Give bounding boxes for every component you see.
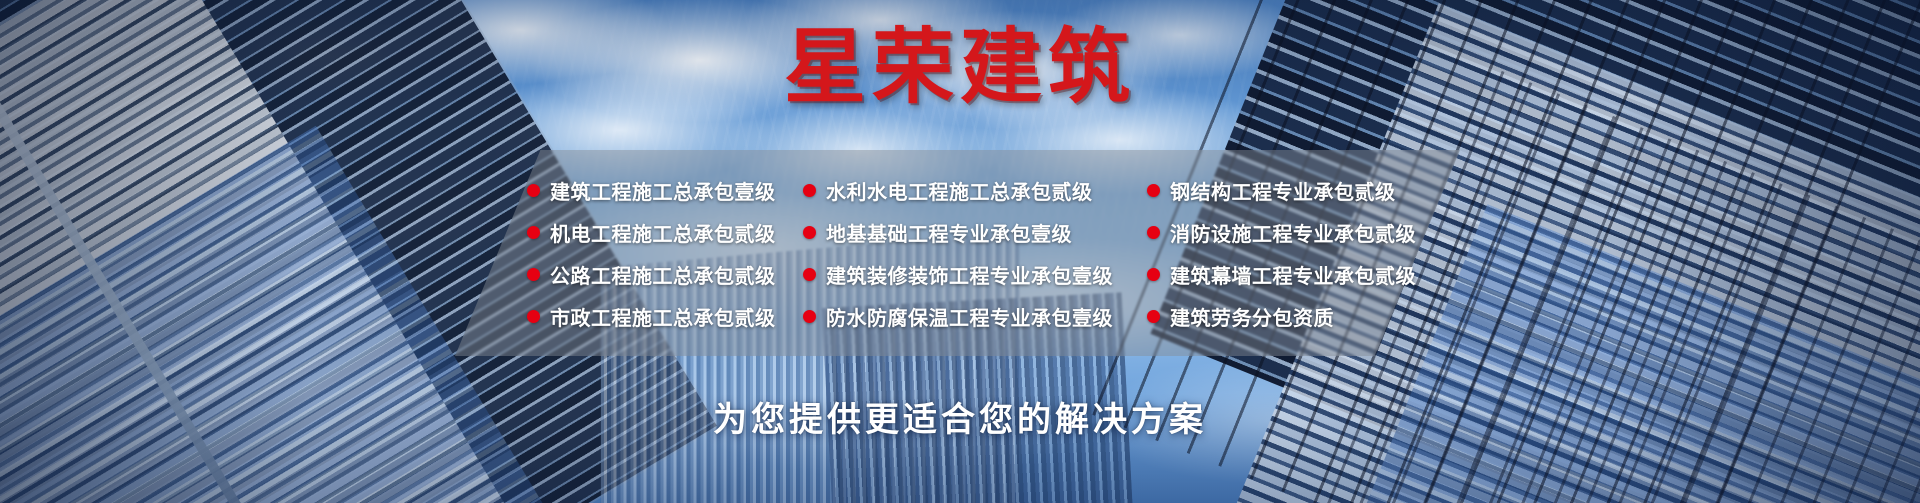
bullet-dot-icon: [527, 184, 540, 197]
qualification-item: 建筑工程施工总承包壹级: [527, 176, 785, 205]
qualification-item: 建筑劳务分包资质: [1147, 302, 1460, 331]
qualification-label: 机电工程施工总承包贰级: [550, 218, 776, 247]
qualifications-grid: 建筑工程施工总承包壹级 机电工程施工总承包贰级 公路工程施工总承包贰级 市政工程…: [455, 150, 1460, 356]
qualification-label: 钢结构工程专业承包贰级: [1170, 176, 1396, 205]
bullet-dot-icon: [803, 268, 816, 281]
qualification-label: 防水防腐保温工程专业承包壹级: [826, 302, 1113, 331]
qualification-label: 建筑装修装饰工程专业承包壹级: [826, 260, 1113, 289]
hero-banner: 星荣建筑 建筑工程施工总承包壹级 机电工程施工总承包贰级 公路工程施工总承包贰级: [0, 0, 1920, 503]
bullet-dot-icon: [1147, 184, 1160, 197]
qualification-label: 市政工程施工总承包贰级: [550, 302, 776, 331]
qualification-item: 市政工程施工总承包贰级: [527, 302, 785, 331]
qualification-item: 钢结构工程专业承包贰级: [1147, 176, 1460, 205]
qualifications-column-3: 钢结构工程专业承包贰级 消防设施工程专业承包贰级 建筑幕墙工程专业承包贰级 建筑…: [1135, 176, 1460, 331]
bullet-dot-icon: [1147, 226, 1160, 239]
banner-tagline: 为您提供更适合您的解决方案: [0, 392, 1920, 441]
bullet-dot-icon: [803, 226, 816, 239]
qualification-item: 建筑装修装饰工程专业承包壹级: [803, 260, 1135, 289]
qualification-label: 消防设施工程专业承包贰级: [1170, 218, 1416, 247]
qualification-item: 防水防腐保温工程专业承包壹级: [803, 302, 1135, 331]
qualification-label: 公路工程施工总承包贰级: [550, 260, 776, 289]
bullet-dot-icon: [803, 184, 816, 197]
bullet-dot-icon: [803, 310, 816, 323]
bullet-dot-icon: [527, 268, 540, 281]
qualification-label: 地基基础工程专业承包壹级: [826, 218, 1072, 247]
bullet-dot-icon: [1147, 310, 1160, 323]
qualification-item: 地基基础工程专业承包壹级: [803, 218, 1135, 247]
qualification-item: 水利水电工程施工总承包贰级: [803, 176, 1135, 205]
qualification-label: 建筑工程施工总承包壹级: [550, 176, 776, 205]
company-title: 星荣建筑: [0, 26, 1920, 110]
qualification-label: 建筑幕墙工程专业承包贰级: [1170, 260, 1416, 289]
bullet-dot-icon: [527, 310, 540, 323]
qualification-item: 消防设施工程专业承包贰级: [1147, 218, 1460, 247]
bullet-dot-icon: [527, 226, 540, 239]
qualification-label: 建筑劳务分包资质: [1170, 302, 1334, 331]
qualification-item: 公路工程施工总承包贰级: [527, 260, 785, 289]
qualification-item: 建筑幕墙工程专业承包贰级: [1147, 260, 1460, 289]
bullet-dot-icon: [1147, 268, 1160, 281]
qualifications-panel: 建筑工程施工总承包壹级 机电工程施工总承包贰级 公路工程施工总承包贰级 市政工程…: [455, 150, 1460, 356]
qualifications-column-1: 建筑工程施工总承包壹级 机电工程施工总承包贰级 公路工程施工总承包贰级 市政工程…: [455, 176, 785, 331]
qualification-item: 机电工程施工总承包贰级: [527, 218, 785, 247]
qualifications-column-2: 水利水电工程施工总承包贰级 地基基础工程专业承包壹级 建筑装修装饰工程专业承包壹…: [785, 176, 1135, 331]
qualification-label: 水利水电工程施工总承包贰级: [826, 176, 1093, 205]
